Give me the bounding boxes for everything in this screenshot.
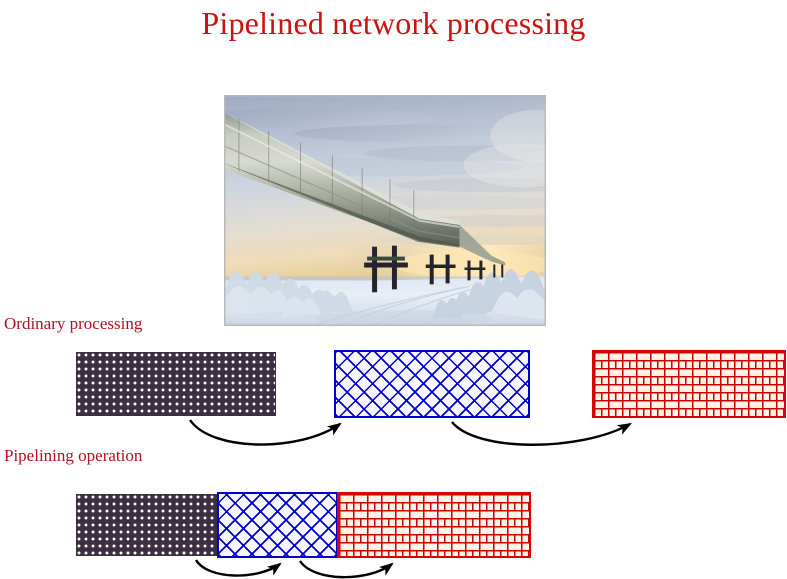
pipeline-photo-artwork [225,96,545,325]
arrow-pipelining-1-to-2 [196,560,280,576]
pipeline-photo [224,95,546,326]
page-title: Pipelined network processing [0,5,787,42]
section-label-ordinary: Ordinary processing [4,314,142,334]
block-pipelining-stage-2 [217,492,338,558]
section-label-pipelining: Pipelining operation [4,446,142,466]
arrow-ordinary-1-to-2 [190,420,340,445]
block-ordinary-stage-2 [334,350,530,418]
block-ordinary-stage-3 [592,350,786,418]
arrow-pipelining-2-to-3 [300,561,392,577]
arrow-ordinary-2-to-3 [452,422,630,445]
block-pipelining-stage-3 [337,492,531,558]
block-pipelining-stage-1 [76,494,218,556]
block-ordinary-stage-1 [76,352,276,416]
